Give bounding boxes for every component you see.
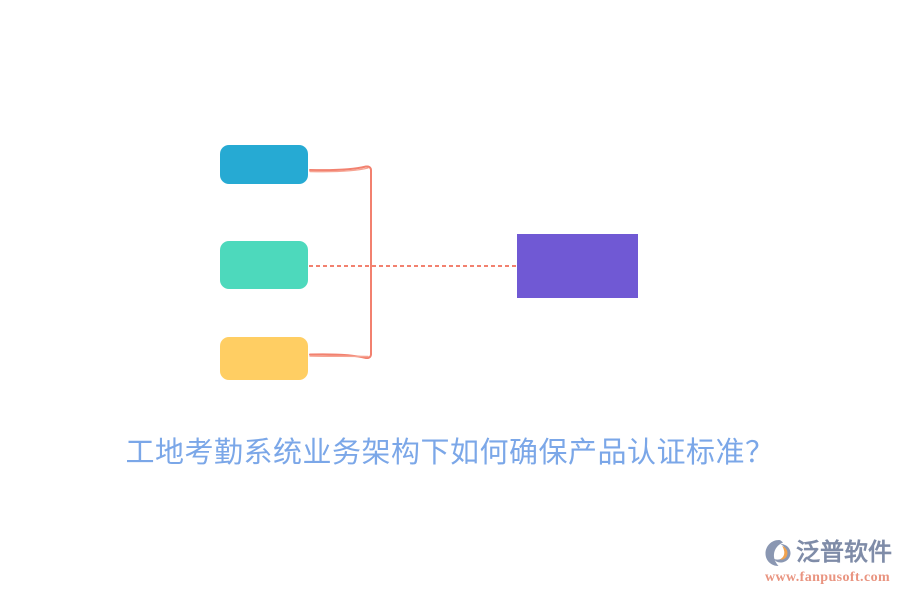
screenshot-canvas: 工地考勤系统业务架构下如何确保产品认证标准？ 泛普软件 www.fanpusof… [0,0,900,600]
bracket-bottom-highlight [310,356,368,357]
blue-node[interactable] [220,145,308,184]
brand-url: www.fanpusoft.com [765,569,890,587]
watermark: 泛普软件 www.fanpusoft.com [764,536,890,590]
yellow-node[interactable] [220,337,308,380]
architecture-diagram [0,0,900,420]
logo-row: 泛普软件 [764,536,890,570]
purple-node[interactable] [517,234,638,298]
fanpu-leaf-logo-icon [764,538,794,568]
green-node[interactable] [220,241,308,289]
bracket-connector-path [310,167,371,359]
brand-wordmark: 泛普软件 [796,538,892,568]
diagram-connectors [0,0,900,420]
page-title: 工地考勤系统业务架构下如何确保产品认证标准？ [0,432,900,474]
